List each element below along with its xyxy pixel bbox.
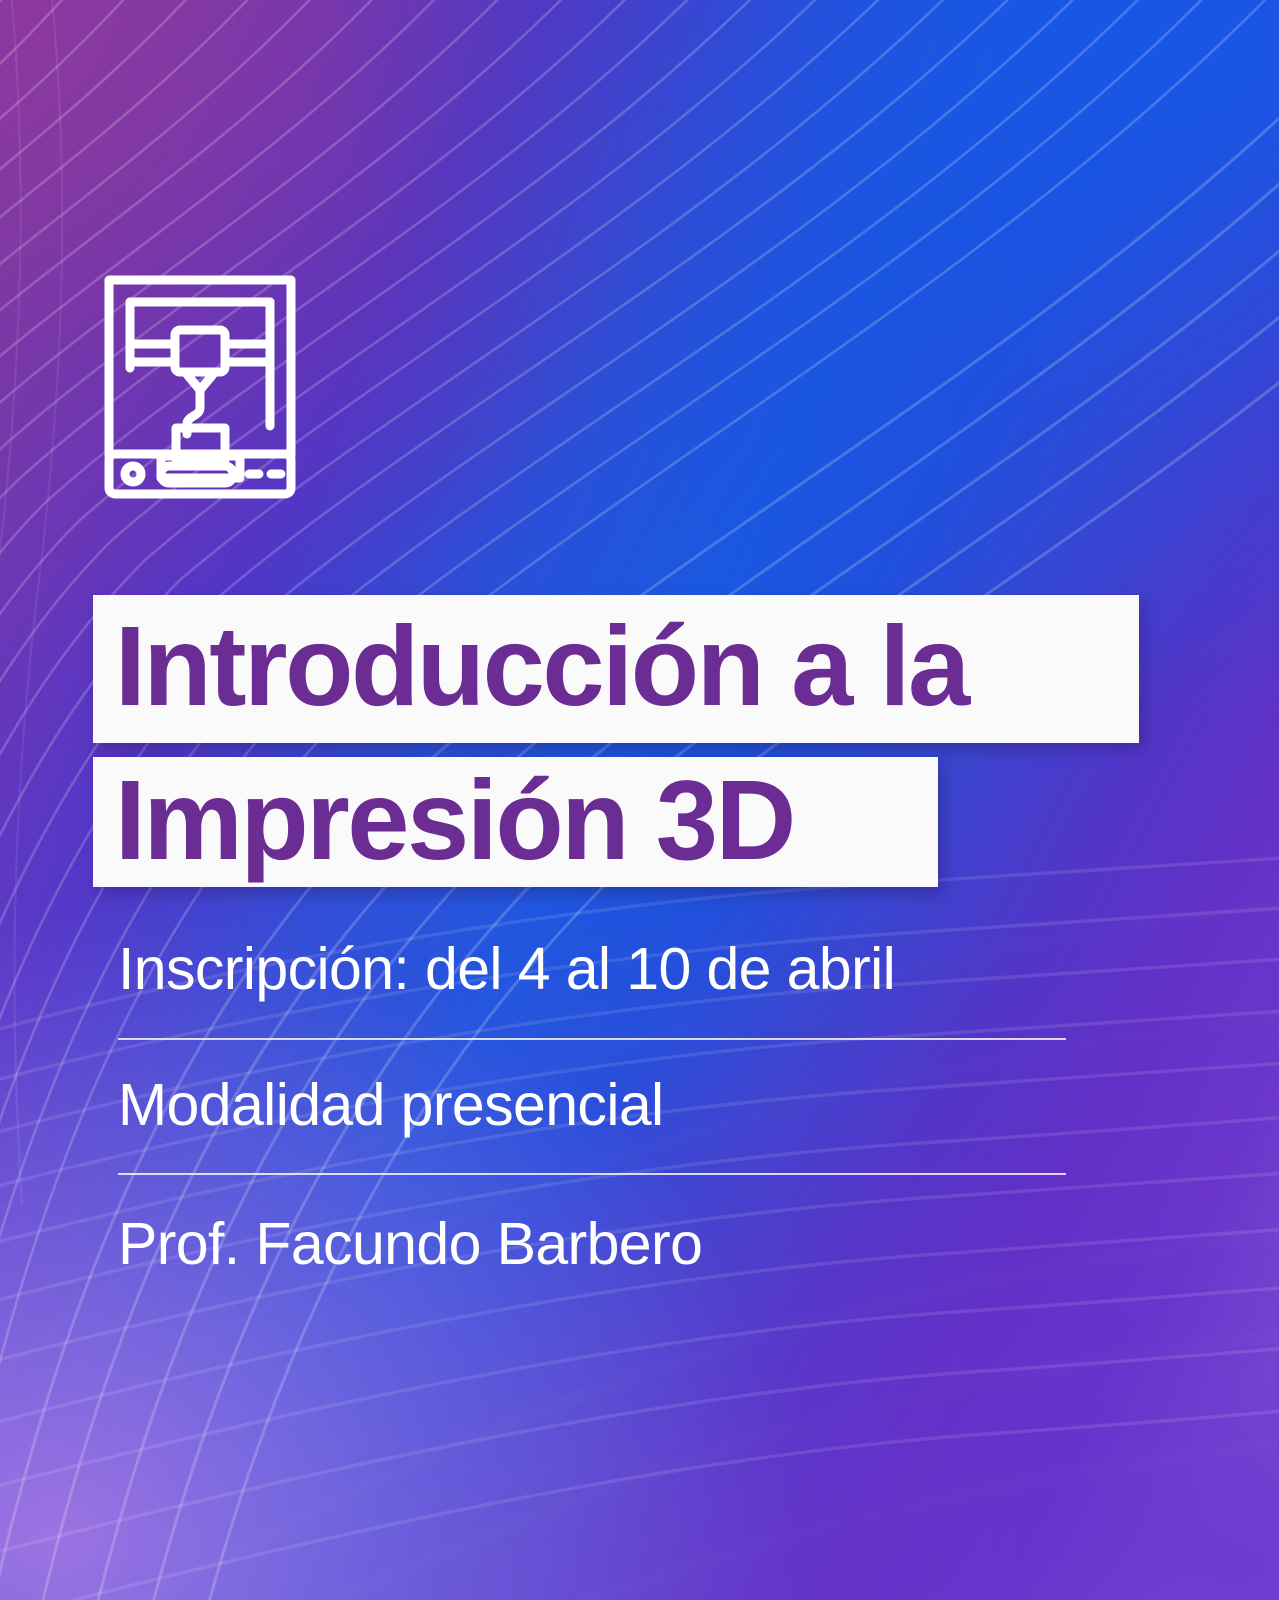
course-info-list: Inscripción: del 4 al 10 de abril Modali… [118,940,1066,1274]
info-row-inscription: Inscripción: del 4 al 10 de abril [118,940,1066,1038]
poster-canvas: Introducción a la Impresión 3D Inscripci… [0,0,1279,1600]
info-row-modality: Modalidad presencial [118,1040,1066,1173]
title-block-line-1: Introducción a la [93,595,1139,743]
3d-printer-icon [99,268,301,503]
title-block-line-2: Impresión 3D [93,757,938,887]
title-text-line-2: Impresión 3D [93,764,794,877]
title-text-line-1: Introducción a la [93,610,968,723]
footer: Intendente Sebastián Abella Municipalida… [0,1440,1279,1600]
info-row-instructor: Prof. Facundo Barbero [118,1175,1066,1274]
